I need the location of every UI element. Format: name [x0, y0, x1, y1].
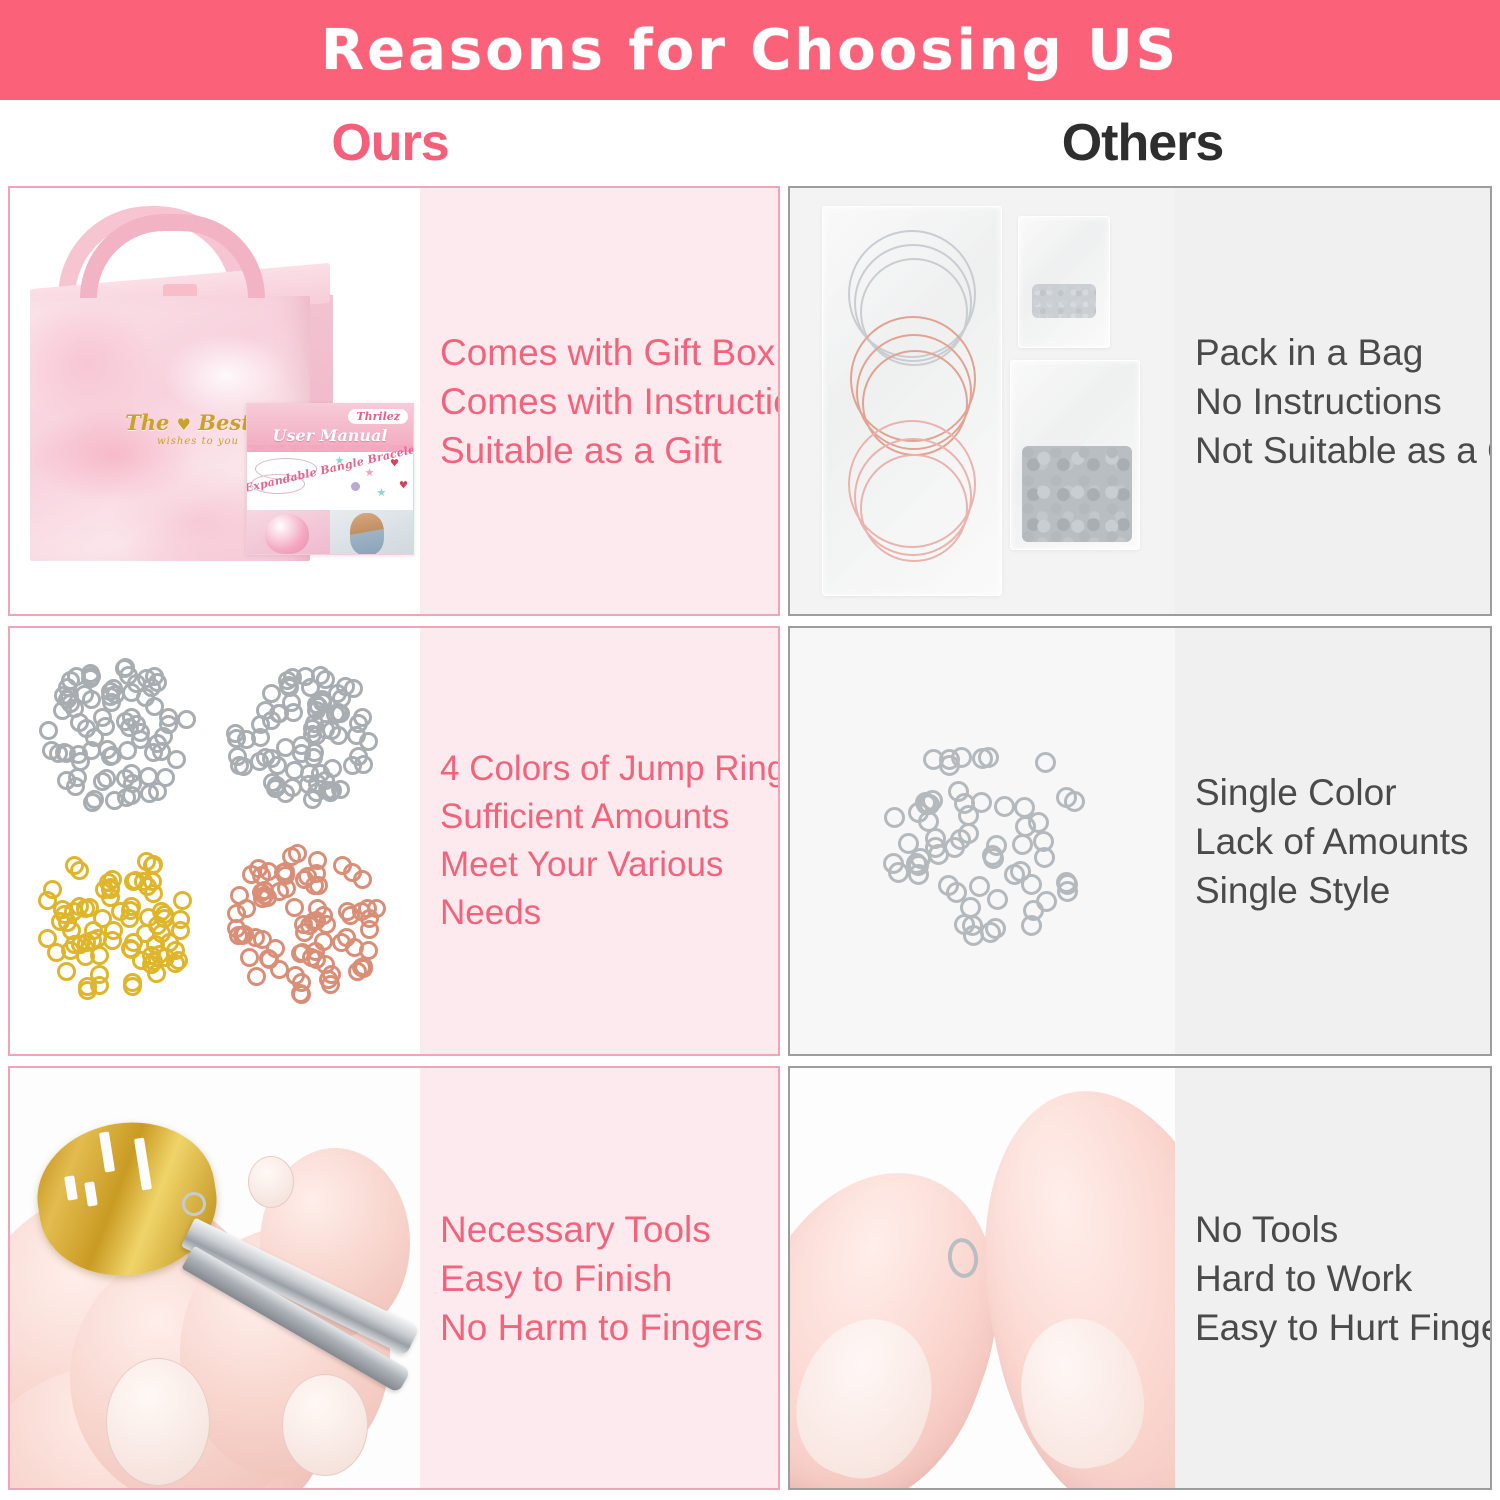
jump-ring	[270, 882, 289, 901]
star-charm-icon	[377, 488, 386, 497]
jump-ring	[284, 703, 303, 722]
jump-ring	[78, 977, 97, 996]
jump-ring	[960, 897, 981, 918]
ring-opener-tool-illustration	[10, 1068, 420, 1488]
bare-fingers-illustration	[790, 1068, 1175, 1488]
jump-ring	[972, 748, 993, 769]
gift-bag-illustration: The ♥ Best wishes to you Thrilez User Ma…	[10, 188, 420, 614]
jump-ring	[97, 769, 116, 788]
jump-ring	[323, 759, 342, 778]
jump-ring	[127, 674, 146, 693]
panel-ours-row3: Necessary Tools Easy to Finish No Harm t…	[420, 1068, 778, 1488]
bag-logo-text: The ♥ Best	[118, 410, 258, 435]
jump-ring	[77, 719, 96, 738]
photo-hand-with-brass-ring-opener-and-pliers	[10, 1068, 420, 1488]
jump-ring	[266, 779, 285, 798]
jump-ring	[144, 855, 163, 874]
jump-ring	[333, 856, 352, 875]
jump-ring	[83, 793, 102, 812]
jump-ring	[288, 844, 307, 863]
list-item: No Harm to Fingers	[440, 1303, 763, 1352]
jump-ring	[240, 948, 259, 967]
jump-ring	[65, 856, 84, 875]
jump-ring-pile-small	[1032, 284, 1096, 318]
panel-ours-row2: 4 Colors of Jump Rings Sufficient Amount…	[420, 628, 780, 1054]
photo-four-color-jump-ring-clusters	[10, 628, 420, 1054]
photo-pink-marble-gift-bag-with-user-manual: The ♥ Best wishes to you Thrilez User Ma…	[10, 188, 420, 614]
jump-ring	[57, 962, 76, 981]
jump-ring	[43, 880, 62, 899]
jump-ring	[118, 741, 137, 760]
jump-ring	[884, 807, 905, 828]
cell-others-row2: Single Color Lack of Amounts Single Styl…	[788, 626, 1492, 1056]
heart-icon: ♥	[177, 415, 191, 434]
single-color-rings-illustration	[790, 628, 1175, 1054]
user-manual-card: Thrilez User Manual Expand	[246, 403, 414, 555]
cell-ours-row1: The ♥ Best wishes to you Thrilez User Ma…	[8, 186, 780, 616]
list-item: Needs	[440, 889, 780, 937]
jump-ring	[152, 924, 171, 943]
list-item: Hard to Work	[1195, 1254, 1492, 1303]
bullet-list-ours-row3: Necessary Tools Easy to Finish No Harm t…	[440, 1205, 763, 1352]
list-item: Suitable as a Gift	[440, 426, 780, 475]
jump-ring	[994, 796, 1015, 817]
jump-ring-cluster-silver	[222, 650, 390, 818]
list-item: Lack of Amounts	[1195, 817, 1469, 866]
list-item: Not Suitable as a Gift	[1195, 426, 1492, 475]
panel-ours-row1: Comes with Gift Box Comes with Instructi…	[420, 188, 780, 614]
bullet-list-ours-row2: 4 Colors of Jump Rings Sufficient Amount…	[440, 745, 780, 937]
charm-pile	[1022, 446, 1132, 542]
jump-ring	[1057, 881, 1078, 902]
jump-ring	[101, 682, 120, 701]
poly-bags-illustration	[790, 188, 1175, 614]
cell-ours-row2: 4 Colors of Jump Rings Sufficient Amount…	[8, 626, 780, 1056]
jump-ring	[950, 829, 971, 850]
cell-others-row1: Pack in a Bag No Instructions Not Suitab…	[788, 186, 1492, 616]
manual-header-band: Thrilez User Manual	[247, 404, 413, 452]
jump-ring	[951, 747, 972, 768]
photo-clear-plastic-bags-with-bangle-wires	[790, 188, 1175, 614]
manual-photo-balloon	[247, 510, 330, 555]
jump-ring	[316, 670, 335, 689]
jump-ring	[321, 975, 340, 994]
bullet-list-ours-row1: Comes with Gift Box Comes with Instructi…	[440, 328, 780, 475]
jump-ring	[140, 784, 159, 803]
jump-ring	[228, 747, 247, 766]
jump-ring	[227, 729, 246, 748]
manual-title-text: User Manual	[247, 426, 413, 445]
list-item: Single Style	[1195, 866, 1469, 915]
list-item: Comes with Instructions	[440, 377, 780, 426]
jump-ring	[354, 959, 373, 978]
jump-ring	[915, 792, 936, 813]
jump-ring-cluster-rose-gold	[222, 840, 390, 1008]
jump-ring	[229, 926, 248, 945]
list-item: Easy to Finish	[440, 1254, 763, 1303]
heart-charm-icon	[399, 480, 408, 489]
jump-ring	[116, 658, 135, 677]
jump-ring-cluster-gold	[34, 840, 202, 1008]
list-item: No Instructions	[1195, 377, 1492, 426]
cell-ours-row3: Necessary Tools Easy to Finish No Harm t…	[8, 1066, 780, 1490]
jump-ring	[304, 912, 323, 931]
jump-ring	[145, 697, 164, 716]
jump-ring	[81, 664, 100, 683]
jump-ring	[122, 786, 141, 805]
jump-ring	[300, 764, 319, 783]
jump-ring	[54, 686, 73, 705]
jump-ring	[38, 929, 57, 948]
jump-ring	[359, 732, 378, 751]
jump-ring	[250, 752, 269, 771]
jump-ring	[173, 891, 192, 910]
list-item: 4 Colors of Jump Rings	[440, 745, 780, 793]
list-item: Single Color	[1195, 768, 1469, 817]
jump-ring	[969, 876, 990, 897]
jump-ring-cluster-silver	[868, 723, 1098, 953]
jump-ring	[71, 752, 90, 771]
fingernail	[106, 1358, 210, 1486]
jump-ring	[99, 873, 118, 892]
comparison-grid: The ♥ Best wishes to you Thrilez User Ma…	[0, 0, 1500, 1500]
bag-logo-pre: The	[125, 410, 177, 435]
jump-ring	[237, 899, 256, 918]
jump-ring	[1004, 864, 1025, 885]
jump-ring	[1012, 834, 1033, 855]
photo-bare-fingers-pinching-jump-ring	[790, 1068, 1175, 1488]
bag-logo-post: Best	[191, 410, 251, 435]
brand-badge: Thrilez	[348, 409, 408, 424]
jump-ring	[171, 910, 190, 929]
jump-ring	[986, 835, 1007, 856]
jump-ring	[154, 727, 173, 746]
jump-ring	[341, 906, 360, 925]
bullet-list-others-row2: Single Color Lack of Amounts Single Styl…	[1195, 768, 1469, 915]
list-item: Meet Your Various	[440, 841, 780, 889]
fingernail	[248, 1156, 294, 1208]
star-charm-icon	[365, 468, 374, 477]
comparison-infographic: Reasons for Choosing US Ours Others The …	[0, 0, 1500, 1500]
jump-ring	[316, 720, 335, 739]
list-item: Sufficient Amounts	[440, 793, 780, 841]
jump-ring	[82, 690, 101, 709]
bullet-list-others-row3: No Tools Hard to Work Easy to Hurt Finge…	[1195, 1205, 1492, 1352]
jump-ring	[910, 848, 931, 869]
list-item: No Tools	[1195, 1205, 1492, 1254]
panel-others-row2: Single Color Lack of Amounts Single Styl…	[1175, 628, 1490, 1054]
jump-ring-cluster-silver	[34, 650, 202, 818]
bead-charm-icon	[351, 482, 360, 491]
jump-ring	[167, 750, 186, 769]
jump-ring	[985, 918, 1006, 939]
list-item: Pack in a Bag	[1195, 328, 1492, 377]
jump-ring	[971, 792, 992, 813]
list-item: Easy to Hurt Fingers	[1195, 1303, 1492, 1352]
jump-ring	[247, 967, 266, 986]
jump-ring	[88, 929, 107, 948]
jump-ring	[987, 889, 1008, 910]
list-item: Comes with Gift Box	[440, 328, 780, 377]
bullet-list-others-row1: Pack in a Bag No Instructions Not Suitab…	[1195, 328, 1492, 475]
jump-rings-illustration	[10, 628, 420, 1054]
panel-others-row1: Pack in a Bag No Instructions Not Suitab…	[1175, 188, 1492, 614]
jump-ring	[90, 946, 109, 965]
manual-illustration-area: Expandable Bangle Bracelets Making Kit	[247, 452, 413, 510]
jump-ring	[1035, 752, 1056, 773]
jump-ring	[268, 756, 287, 775]
jump-ring	[963, 925, 984, 946]
jump-ring	[121, 901, 140, 920]
photo-single-color-silver-jump-rings	[790, 628, 1175, 1054]
list-item: Necessary Tools	[440, 1205, 763, 1254]
jump-ring	[292, 744, 311, 763]
jump-ring	[116, 769, 135, 788]
jump-ring	[123, 977, 142, 996]
manual-photo-strip	[247, 510, 413, 555]
cell-others-row3: No Tools Hard to Work Easy to Hurt Finge…	[788, 1066, 1492, 1490]
jump-ring	[260, 950, 279, 969]
jump-ring	[278, 671, 297, 690]
jump-ring	[49, 744, 68, 763]
poly-bag-small	[1018, 216, 1110, 348]
pink-bangle-coil	[860, 454, 968, 562]
jump-ring	[39, 721, 58, 740]
jump-ring	[1056, 787, 1077, 808]
jump-ring	[367, 899, 386, 918]
manual-photo-model	[330, 510, 413, 555]
fingernail	[282, 1374, 368, 1476]
jump-ring	[252, 883, 271, 902]
jump-ring	[326, 704, 345, 723]
jump-ring	[1014, 797, 1035, 818]
jump-ring	[177, 710, 196, 729]
jump-ring	[1036, 891, 1057, 912]
panel-others-row3: No Tools Hard to Work Easy to Hurt Finge…	[1175, 1068, 1492, 1488]
jump-ring	[349, 714, 368, 733]
jump-ring	[1033, 831, 1054, 852]
